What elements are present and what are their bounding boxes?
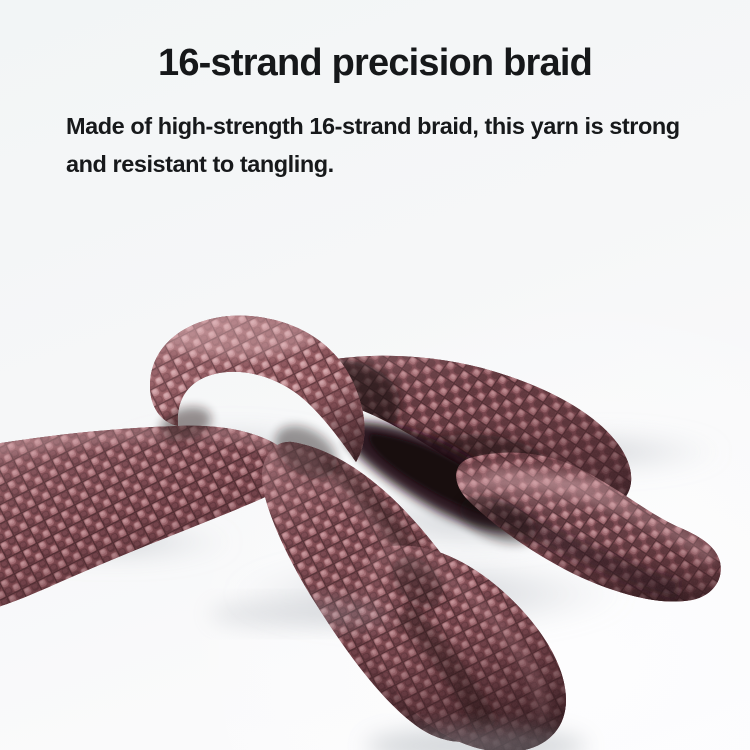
braided-rope-knot-photo: [0, 190, 750, 750]
page-title: 16-strand precision braid: [0, 0, 750, 86]
product-feature-card: 16-strand precision braid Made of high-s…: [0, 0, 750, 750]
text-block: 16-strand precision braid Made of high-s…: [0, 0, 750, 183]
product-image: [0, 190, 750, 750]
page-subtitle: Made of high-strength 16-strand braid, t…: [0, 86, 750, 183]
